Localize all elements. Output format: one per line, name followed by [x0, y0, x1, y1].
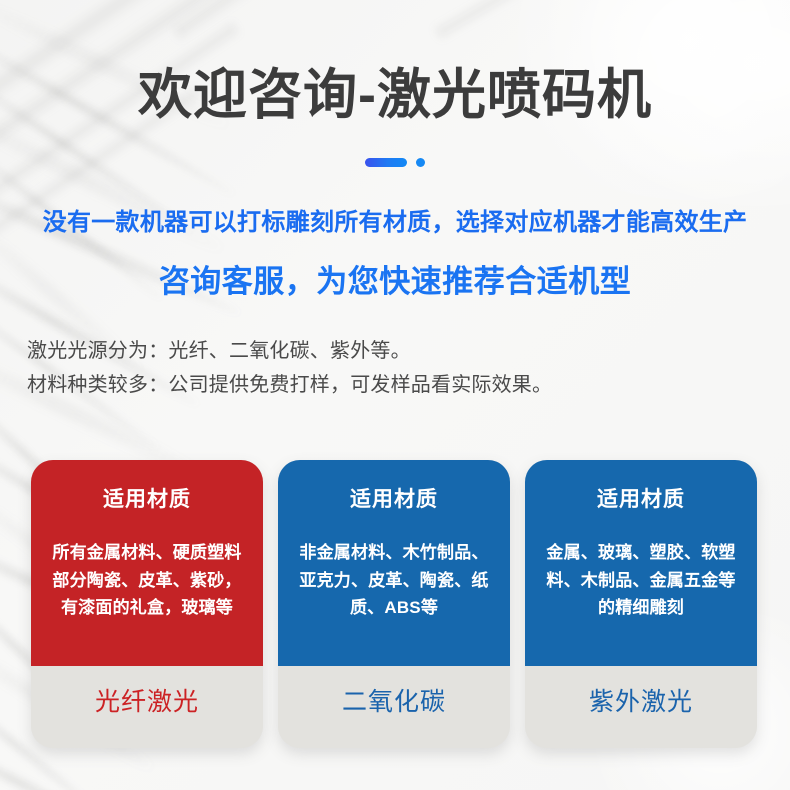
description-block: 激光光源分为：光纤、二氧化碳、紫外等。 材料种类较多：公司提供免费打样，可发样品… [27, 334, 747, 403]
card-body-text: 所有金属材料、硬质塑料部分陶瓷、皮革、紫砂，有漆面的礼盒，玻璃等 [45, 539, 249, 622]
blind-shadow-band [433, 0, 667, 42]
subtitle-primary: 没有一款机器可以打标雕刻所有材质，选择对应机器才能高效生产 [0, 202, 790, 237]
card-top-uv: 适用材质 金属、玻璃、塑胶、软塑料、木制品、金属五金等的精细雕刻 [525, 460, 757, 666]
card-top-fiber: 适用材质 所有金属材料、硬质塑料部分陶瓷、皮革、紫砂，有漆面的礼盒，玻璃等 [31, 460, 263, 666]
card-body-text: 金属、玻璃、塑胶、软塑料、木制品、金属五金等的精细雕刻 [539, 539, 743, 622]
card-footer-fiber[interactable]: 光纤激光 [31, 666, 263, 748]
divider-dot-icon [416, 158, 425, 167]
description-line: 激光光源分为：光纤、二氧化碳、紫外等。 [27, 334, 747, 368]
card-footer-label: 光纤激光 [95, 682, 199, 718]
card-heading: 适用材质 [350, 483, 438, 513]
material-card-co2[interactable]: 适用材质 非金属材料、木竹制品、亚克力、皮革、陶瓷、纸质、ABS等 二氧化碳 [278, 460, 510, 748]
card-top-co2: 适用材质 非金属材料、木竹制品、亚克力、皮革、陶瓷、纸质、ABS等 [278, 460, 510, 666]
material-card-uv[interactable]: 适用材质 金属、玻璃、塑胶、软塑料、木制品、金属五金等的精细雕刻 紫外激光 [525, 460, 757, 748]
subtitle-secondary: 咨询客服，为您快速推荐合适机型 [0, 256, 790, 301]
description-line: 材料种类较多：公司提供免费打样，可发样品看实际效果。 [27, 368, 747, 402]
divider-bar-icon [365, 158, 407, 167]
card-heading: 适用材质 [103, 483, 191, 513]
blind-shadow-band [170, 0, 430, 42]
card-footer-label: 紫外激光 [589, 682, 693, 718]
title-divider [0, 158, 790, 167]
card-footer-uv[interactable]: 紫外激光 [525, 666, 757, 748]
card-heading: 适用材质 [597, 483, 685, 513]
material-card-fiber[interactable]: 适用材质 所有金属材料、硬质塑料部分陶瓷、皮革、紫砂，有漆面的礼盒，玻璃等 光纤… [31, 460, 263, 748]
card-footer-co2[interactable]: 二氧化碳 [278, 666, 510, 748]
material-card-list: 适用材质 所有金属材料、硬质塑料部分陶瓷、皮革、紫砂，有漆面的礼盒，玻璃等 光纤… [31, 460, 759, 750]
page-title: 欢迎咨询-激光喷码机 [0, 64, 790, 128]
promo-banner: 欢迎咨询-激光喷码机 没有一款机器可以打标雕刻所有材质，选择对应机器才能高效生产… [0, 0, 790, 790]
card-footer-label: 二氧化碳 [342, 682, 446, 718]
card-body-text: 非金属材料、木竹制品、亚克力、皮革、陶瓷、纸质、ABS等 [292, 539, 496, 622]
